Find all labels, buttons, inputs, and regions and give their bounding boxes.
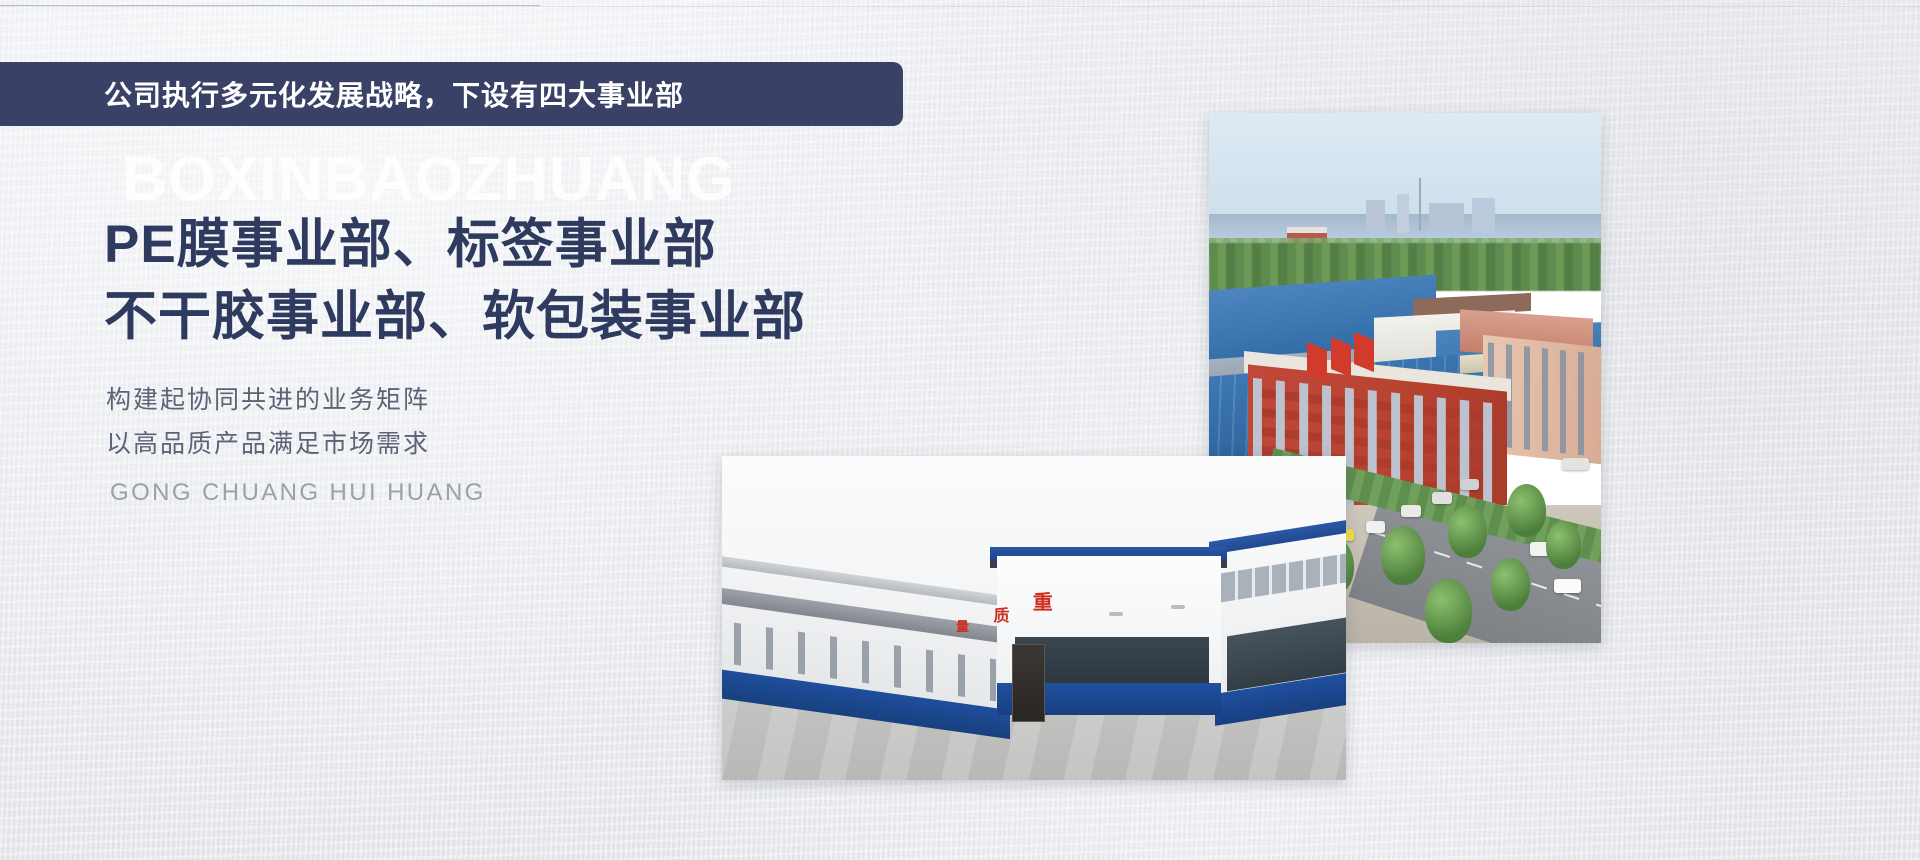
subtitle-line-2: 以高品质产品满足市场需求 xyxy=(106,422,430,466)
aerial-car xyxy=(1562,458,1589,471)
subtitle-line-1: 构建起协同共进的业务矩阵 xyxy=(106,378,430,422)
aerial-skyline-block xyxy=(1472,198,1496,233)
brand-watermark: BOXINBAOZHUANG xyxy=(122,144,735,215)
aerial-car xyxy=(1460,479,1480,491)
aerial-car xyxy=(1401,505,1421,517)
aerial-car xyxy=(1554,579,1581,593)
headline-block: PE膜事业部、标签事业部 不干胶事业部、软包装事业部 xyxy=(104,212,864,350)
banner-title: 公司执行多元化发展战略，下设有四大事业部 xyxy=(104,74,684,114)
workshop-entrance-door xyxy=(1012,644,1044,722)
aerial-skyline-block xyxy=(1366,200,1386,232)
aerial-antenna-mast xyxy=(1419,178,1421,231)
aerial-skyline-block xyxy=(1397,194,1409,233)
hero-stage: 公司执行多元化发展战略，下设有四大事业部 BOXINBAOZHUANG PE膜事… xyxy=(0,0,1920,860)
subtitle-block: 构建起协同共进的业务矩阵 以高品质产品满足市场需求 xyxy=(106,378,430,466)
aerial-distant-red-building-roof xyxy=(1287,227,1326,233)
aerial-street-tree xyxy=(1491,558,1530,611)
aerial-street-tree xyxy=(1507,484,1546,537)
headline-banner: 公司执行多元化发展战略，下设有四大事业部 xyxy=(0,62,903,126)
aerial-street-tree xyxy=(1425,579,1472,643)
workshop-wall-character-1: 重 xyxy=(1033,586,1053,615)
photo-workshop-frame: 重 质 量 xyxy=(722,456,1346,780)
aerial-street-tree xyxy=(1448,505,1487,558)
aerial-street-tree xyxy=(1546,521,1581,569)
aerial-street-tree xyxy=(1381,526,1424,584)
headline-line-1: PE膜事业部、标签事业部 xyxy=(104,212,864,278)
headline-line-2: 不干胶事业部、软包装事业部 xyxy=(104,284,864,350)
workshop-wall-character-2: 质 xyxy=(993,602,1009,626)
workshop-wall-character-3: 量 xyxy=(956,616,969,635)
aerial-car xyxy=(1366,521,1386,533)
workshop-wall-lamp xyxy=(1171,605,1185,609)
workshop-wall-lamp xyxy=(1109,612,1123,616)
top-hairline-wide xyxy=(0,6,1920,7)
top-hairline xyxy=(0,5,540,6)
photo-workshop-building: 重 质 量 xyxy=(722,456,1346,780)
aerial-skyline-block xyxy=(1429,203,1464,233)
aerial-car xyxy=(1432,492,1452,504)
photo-workshop-canvas: 重 质 量 xyxy=(722,456,1346,780)
pinyin-tagline: GONG CHUANG HUI HUANG xyxy=(110,479,486,507)
